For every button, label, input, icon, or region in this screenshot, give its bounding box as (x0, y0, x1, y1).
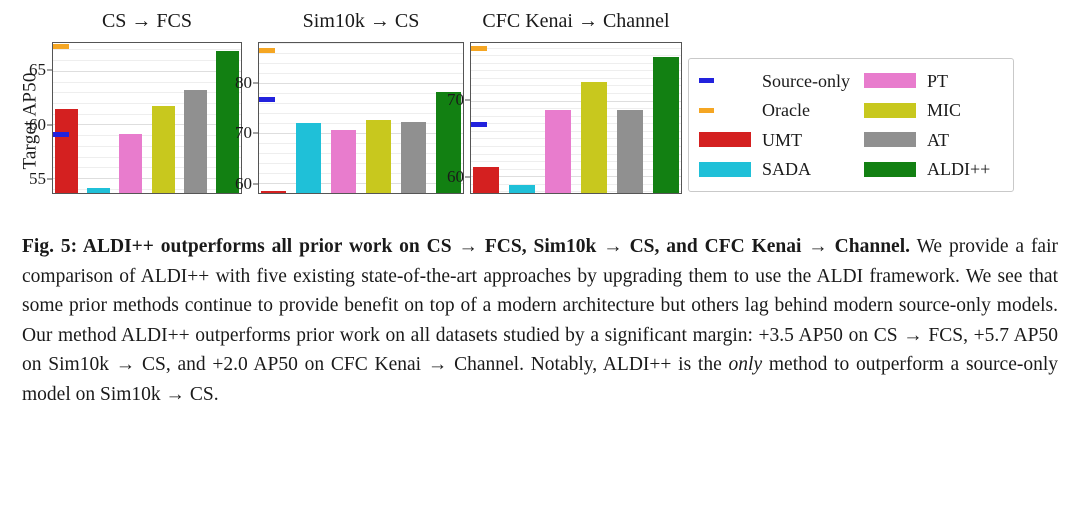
y-axis-ticks: 556065 (6, 42, 52, 194)
legend-label: MIC (927, 101, 961, 119)
y-tick-label: 65 (29, 60, 46, 80)
legend-label: SADA (762, 160, 811, 178)
bar-pt (331, 130, 356, 194)
bar-sada (87, 188, 110, 193)
chart-panel-cfc-kenai-channel: CFC Kenai → Channel 6070 (470, 8, 682, 208)
legend-label: Source-only (762, 72, 850, 90)
y-tick-label: 80 (235, 73, 252, 93)
caption-label: Fig. 5: (22, 236, 77, 257)
legend-label: UMT (762, 131, 802, 149)
chart-title: CFC Kenai → Channel (470, 8, 682, 34)
legend-item-at[interactable]: AT (864, 125, 1003, 155)
caption-bold-lead: ALDI++ outperforms all prior work on CS … (83, 236, 910, 257)
legend-label: ALDI++ (927, 160, 990, 178)
legend-item-source-only[interactable]: Source-only (699, 66, 850, 96)
bar-at (184, 90, 207, 193)
bar-pt (119, 134, 142, 193)
legend-item-pt[interactable]: PT (864, 66, 1003, 96)
legend-label: PT (927, 72, 948, 90)
caption-emphasis: only (729, 354, 763, 375)
y-tick-label: 70 (235, 123, 252, 143)
legend-swatch-icon (864, 132, 916, 147)
bar-umt (55, 109, 78, 193)
legend-item-sada[interactable]: SADA (699, 155, 850, 185)
legend-item-aldiplusplus[interactable]: ALDI++ (864, 155, 1003, 185)
legend-label: Oracle (762, 101, 810, 119)
y-tick-label: 70 (447, 90, 464, 110)
legend-swatch-icon (699, 132, 751, 147)
bar-group (471, 43, 681, 193)
legend-item-mic[interactable]: MIC (864, 96, 1003, 126)
reference-line-oracle (471, 46, 681, 51)
legend-swatch-icon (864, 103, 916, 118)
legend-swatch-icon (699, 108, 751, 113)
y-tick-label: 60 (447, 167, 464, 187)
legend-item-oracle[interactable]: Oracle (699, 96, 850, 126)
y-axis-ticks: 6070 (424, 42, 470, 194)
legend-item-umt[interactable]: UMT (699, 125, 850, 155)
bar-umt (473, 167, 499, 193)
figure-panels: Target AP50 CS → FCS 556065 Sim10k → CS … (0, 0, 1080, 212)
chart-legend: Source-onlyPTOracleMICUMTATSADAALDI++ (688, 58, 1014, 192)
bar-sada (296, 123, 321, 194)
chart-title: Sim10k → CS (258, 8, 464, 34)
bar-mic (366, 120, 391, 193)
bar-sada (509, 185, 535, 193)
legend-swatch-icon (699, 78, 751, 83)
y-tick-label: 55 (29, 169, 46, 189)
bar-mic (152, 106, 175, 193)
y-axis-ticks: 607080 (212, 42, 258, 194)
figure-caption: Fig. 5: ALDI++ outperforms all prior wor… (22, 232, 1058, 409)
plot-area (470, 42, 682, 194)
bar-umt (261, 191, 286, 194)
y-tick-label: 60 (235, 174, 252, 194)
legend-swatch-icon (699, 162, 751, 177)
legend-swatch-icon (864, 73, 916, 88)
chart-title: CS → FCS (52, 8, 242, 34)
bar-mic (581, 82, 607, 193)
reference-line-source-only (471, 122, 681, 127)
legend-label: AT (927, 131, 949, 149)
y-tick-label: 60 (29, 115, 46, 135)
bar-at (401, 122, 426, 193)
legend-swatch-icon (864, 162, 916, 177)
